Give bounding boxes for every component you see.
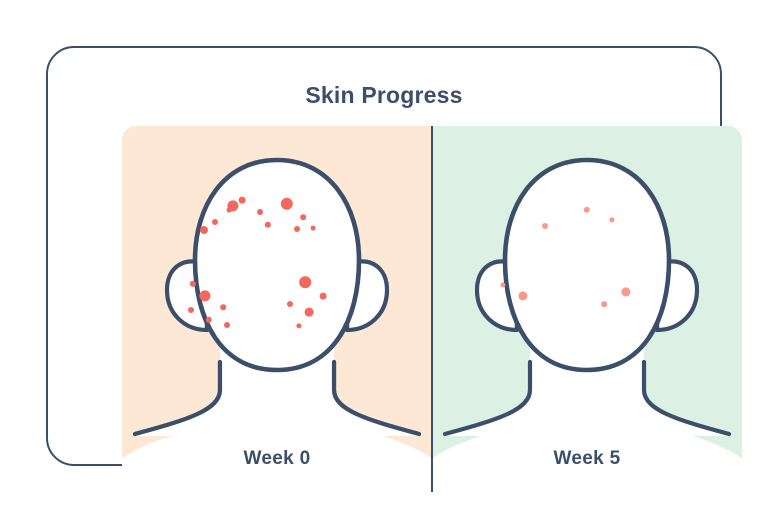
head-figure-svg	[147, 144, 407, 444]
head-figure-svg	[457, 144, 717, 444]
comparison-panels: Week 0 Week 5	[122, 126, 742, 492]
caption-after: Week 5	[432, 448, 742, 470]
card-title-bar: Skin Progress	[48, 78, 720, 112]
panel-divider	[431, 126, 433, 492]
head-outline	[195, 160, 359, 370]
face-illustration-before	[147, 144, 407, 444]
panel-after[interactable]: Week 5	[432, 126, 742, 492]
page-title: Skin Progress	[287, 78, 480, 112]
caption-before: Week 0	[122, 448, 432, 470]
screenshot-root: Week 0 Week 5	[0, 0, 768, 512]
panel-before[interactable]: Week 0	[122, 126, 432, 492]
face-illustration-after	[457, 144, 717, 444]
skin-progress-card: Week 0 Week 5	[46, 46, 722, 466]
head-outline	[505, 160, 669, 370]
